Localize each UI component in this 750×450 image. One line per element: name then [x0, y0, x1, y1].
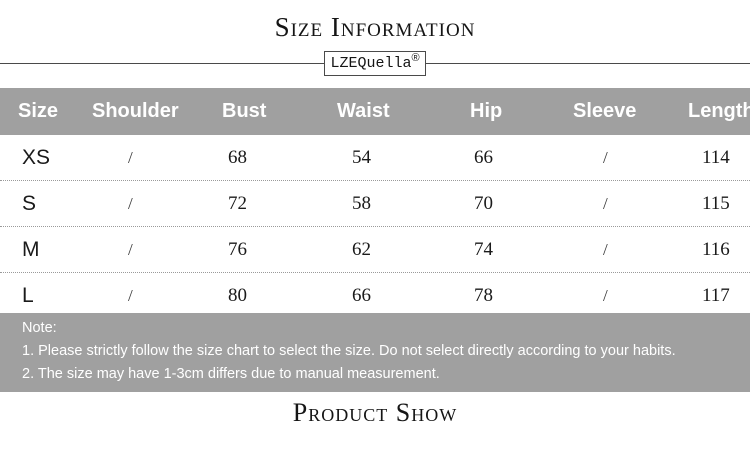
product-show-heading: Product Show [0, 398, 750, 428]
table-row: S / 72 58 70 / 115 [0, 181, 750, 227]
note-panel: Note: 1. Please strictly follow the size… [0, 313, 750, 392]
cell-shoulder: / [128, 135, 133, 180]
cell-length: 117 [702, 273, 730, 318]
registered-trademark-icon: ® [411, 53, 419, 64]
size-information-card: Size Information LZEQuella® Size Shoulde… [0, 0, 750, 450]
cell-hip: 66 [474, 135, 493, 180]
cell-shoulder: / [128, 227, 133, 272]
cell-sleeve: / [603, 273, 608, 318]
cell-hip: 70 [474, 181, 493, 226]
cell-sleeve: / [603, 227, 608, 272]
table-row: L / 80 66 78 / 117 [0, 273, 750, 318]
column-header-sleeve: Sleeve [573, 88, 636, 135]
cell-shoulder: / [128, 181, 133, 226]
cell-hip: 78 [474, 273, 493, 318]
cell-length: 115 [702, 181, 730, 226]
cell-size: XS [22, 135, 50, 180]
cell-bust: 72 [228, 181, 247, 226]
column-header-shoulder: Shoulder [92, 88, 179, 135]
cell-length: 114 [702, 135, 730, 180]
table-row: XS / 68 54 66 / 114 [0, 135, 750, 181]
cell-waist: 54 [352, 135, 371, 180]
cell-waist: 66 [352, 273, 371, 318]
column-header-size: Size [18, 88, 58, 135]
brand-name: LZEQuella [330, 52, 411, 75]
column-header-bust: Bust [222, 88, 266, 135]
cell-bust: 68 [228, 135, 247, 180]
cell-length: 116 [702, 227, 730, 272]
cell-bust: 76 [228, 227, 247, 272]
cell-hip: 74 [474, 227, 493, 272]
column-header-length: Length [688, 88, 750, 135]
cell-waist: 62 [352, 227, 371, 272]
note-line-1: 1. Please strictly follow the size chart… [22, 343, 676, 359]
cell-sleeve: / [603, 181, 608, 226]
note-line-2: 2. The size may have 1-3cm differs due t… [22, 366, 440, 382]
cell-size: S [22, 181, 36, 226]
page-title: Size Information [0, 12, 750, 42]
brand-rule-right [424, 63, 750, 64]
brand-box: LZEQuella® [324, 51, 426, 76]
table-header-row: Size Shoulder Bust Waist Hip Sleeve Leng… [0, 88, 750, 135]
cell-shoulder: / [128, 273, 133, 318]
cell-waist: 58 [352, 181, 371, 226]
table-row: M / 76 62 74 / 116 [0, 227, 750, 273]
column-header-hip: Hip [470, 88, 502, 135]
cell-sleeve: / [603, 135, 608, 180]
column-header-waist: Waist [337, 88, 390, 135]
cell-size: L [22, 273, 34, 318]
cell-size: M [22, 227, 40, 272]
cell-bust: 80 [228, 273, 247, 318]
note-heading: Note: [22, 320, 57, 336]
brand-band: LZEQuella® [0, 51, 750, 77]
brand-rule-left [0, 63, 326, 64]
size-table: Size Shoulder Bust Waist Hip Sleeve Leng… [0, 88, 750, 318]
